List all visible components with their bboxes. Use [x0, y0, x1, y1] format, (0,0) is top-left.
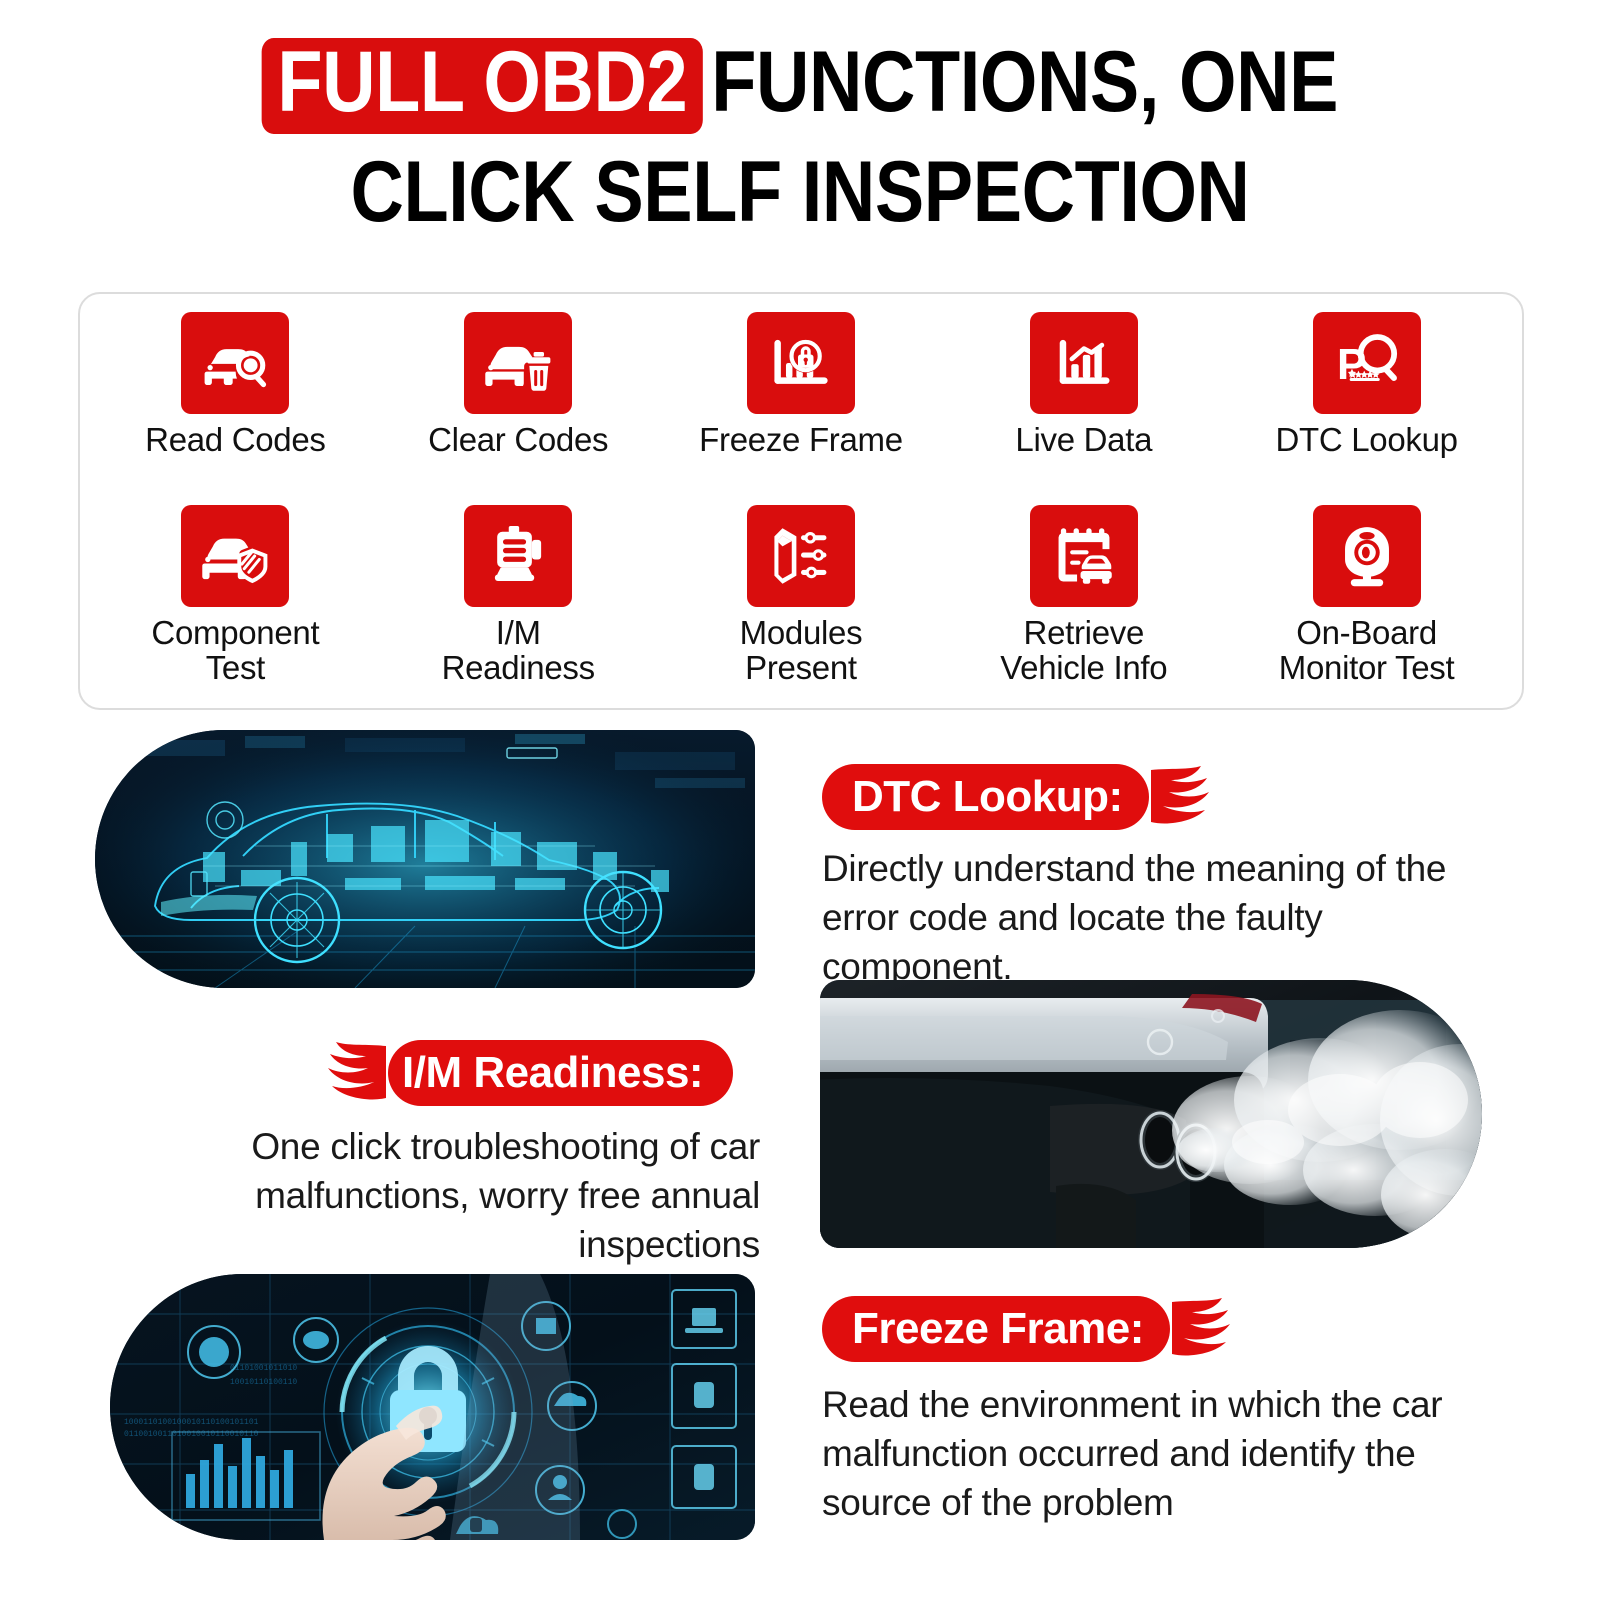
title-line-1: FULL OBD2FUNCTIONS, ONE: [112, 38, 1488, 134]
exhaust-smoke-photo: [820, 980, 1482, 1248]
function-label: Clear Codes: [428, 423, 608, 458]
svg-text:1000110100100010110100101101: 1000110100100010110100101101: [124, 1418, 259, 1427]
function-dtc-lookup[interactable]: P DTC Lookup: [1232, 312, 1501, 458]
car-trash-icon: [464, 312, 572, 414]
function-label: Retrieve Vehicle Info: [1000, 616, 1167, 686]
car-magnifier-icon: [181, 312, 289, 414]
function-component-test[interactable]: Component Test: [101, 505, 370, 686]
dtc-lookup-description: Directly understand the meaning of the e…: [822, 844, 1482, 992]
function-label: Modules Present: [740, 616, 863, 686]
chart-lock-icon: [747, 312, 855, 414]
module-sliders-icon: [747, 505, 855, 607]
function-label: Live Data: [1015, 423, 1152, 458]
function-read-codes[interactable]: Read Codes: [101, 312, 370, 458]
dtc-lookup-banner: DTC Lookup:: [822, 764, 1215, 830]
obd2-functions-panel: Read Codes Clear Codes: [78, 292, 1524, 710]
banner-pill: Freeze Frame:: [822, 1296, 1170, 1362]
car-shield-icon: [181, 505, 289, 607]
p-code-magnifier-icon: P: [1313, 312, 1421, 414]
flame-icon: [1170, 1296, 1236, 1362]
flame-icon: [322, 1040, 388, 1106]
banner-label: I/M Readiness:: [402, 1048, 703, 1098]
banner-pill: DTC Lookup:: [822, 764, 1149, 830]
banner-label: Freeze Frame:: [852, 1304, 1144, 1354]
function-modules-present[interactable]: Modules Present: [667, 505, 936, 686]
banner-label: DTC Lookup:: [852, 772, 1123, 822]
freeze-frame-banner: Freeze Frame:: [822, 1296, 1236, 1362]
function-label: On-Board Monitor Test: [1279, 616, 1455, 686]
freeze-frame-description: Read the environment in which the car ma…: [822, 1380, 1502, 1528]
flame-icon: [1149, 764, 1215, 830]
functions-row-2: Component Test I/M Readiness: [94, 505, 1508, 698]
bar-chart-trend-icon: [1030, 312, 1138, 414]
function-label: Freeze Frame: [699, 423, 903, 458]
banner-pill: I/M Readiness:: [388, 1040, 733, 1106]
functions-row-1: Read Codes Clear Codes: [94, 312, 1508, 505]
function-freeze-frame[interactable]: Freeze Frame: [667, 312, 936, 458]
function-live-data[interactable]: Live Data: [949, 312, 1218, 458]
svg-text:10010110100110: 10010110100110: [230, 1378, 297, 1387]
function-retrieve-vehicle-info[interactable]: Retrieve Vehicle Info: [949, 505, 1218, 686]
wireframe-car-photo: [95, 730, 755, 988]
title-line-2: CLICK SELF INSPECTION: [112, 150, 1488, 234]
title-line-1-rest: FUNCTIONS, ONE: [711, 34, 1338, 130]
page-title: FULL OBD2FUNCTIONS, ONE CLICK SELF INSPE…: [0, 0, 1600, 234]
im-readiness-description: One click troubleshooting of car malfunc…: [120, 1122, 760, 1270]
function-onboard-monitor-test[interactable]: On-Board Monitor Test: [1232, 505, 1501, 686]
function-label: DTC Lookup: [1275, 423, 1457, 458]
cyber-security-touch-photo: 1000110100100010110100101101 01100100110…: [110, 1274, 755, 1540]
im-readiness-banner: I/M Readiness:: [322, 1040, 733, 1106]
function-label: I/M Readiness: [442, 616, 595, 686]
function-label: Read Codes: [145, 423, 325, 458]
function-im-readiness[interactable]: I/M Readiness: [384, 505, 653, 686]
function-label: Component Test: [151, 616, 319, 686]
svg-text:01101001011010: 01101001011010: [230, 1364, 297, 1373]
function-clear-codes[interactable]: Clear Codes: [384, 312, 653, 458]
clipboard-car-icon: [1030, 505, 1138, 607]
full-obd2-badge: FULL OBD2: [262, 38, 703, 134]
motor-icon: [464, 505, 572, 607]
sensor-camera-icon: [1313, 505, 1421, 607]
